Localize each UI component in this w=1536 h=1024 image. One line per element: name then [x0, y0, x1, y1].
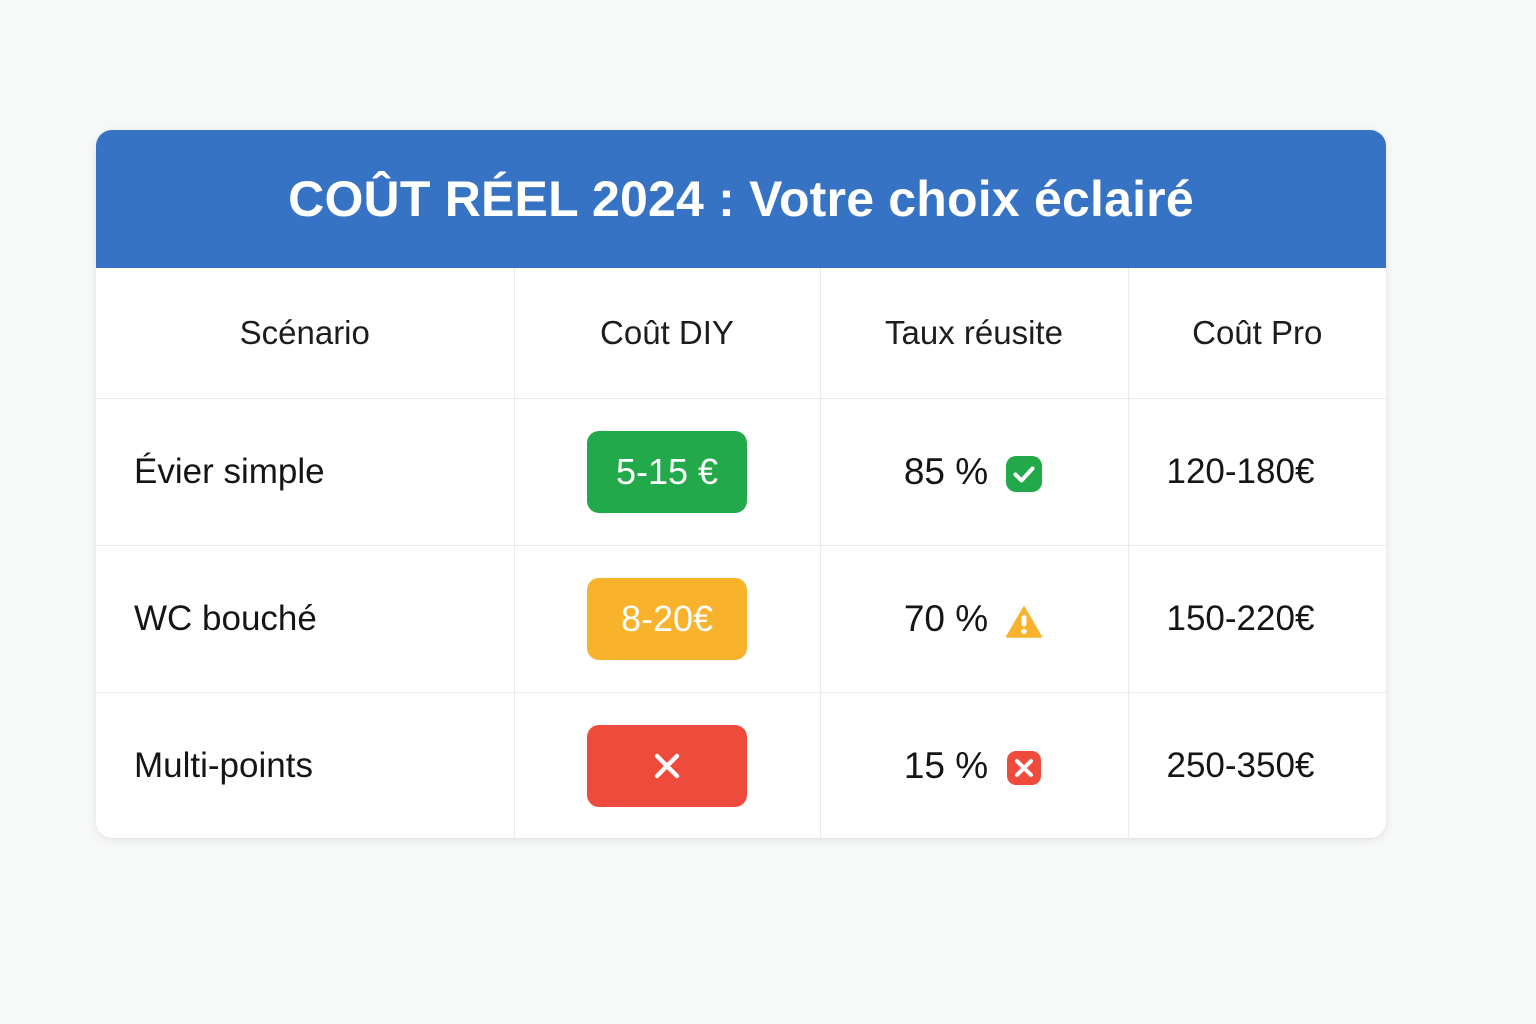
rate-group: 70 % — [904, 598, 1044, 640]
x-circle-icon — [1004, 748, 1044, 788]
check-circle-icon — [1004, 454, 1044, 494]
rate-value: 85 % — [904, 451, 988, 493]
rate-value: 70 % — [904, 598, 988, 640]
cell-diy-cost: 8-20€ — [514, 545, 820, 692]
cell-scenario: WC bouché — [96, 545, 514, 692]
column-header-scenario: Scénario — [96, 268, 514, 398]
diy-cost-badge: 8-20€ — [587, 578, 747, 660]
table-header-row: Scénario Coût DIY Taux réusite Coût Pro — [96, 268, 1386, 398]
cell-success-rate: 15 % — [820, 692, 1128, 838]
cell-success-rate: 85 % — [820, 398, 1128, 545]
cell-pro-cost: 120-180€ — [1128, 398, 1386, 545]
card-header-banner: COÛT RÉEL 2024 : Votre choix éclairé — [96, 130, 1386, 268]
diy-cost-badge: 5-15 € — [587, 431, 747, 513]
close-x-icon — [650, 749, 684, 783]
table-body: Évier simple 5-15 € 85 % — [96, 398, 1386, 838]
table-header-row-group: Scénario Coût DIY Taux réusite Coût Pro — [96, 268, 1386, 398]
cell-pro-cost: 250-350€ — [1128, 692, 1386, 838]
rate-group: 85 % — [904, 451, 1044, 493]
cell-scenario: Multi-points — [96, 692, 514, 838]
warning-triangle-icon — [1004, 601, 1044, 641]
page-root: COÛT RÉEL 2024 : Votre choix éclairé Scé… — [0, 0, 1536, 1024]
cell-diy-cost: 5-15 € — [514, 398, 820, 545]
cell-diy-cost — [514, 692, 820, 838]
column-header-success-rate: Taux réusite — [820, 268, 1128, 398]
diy-cost-badge — [587, 725, 747, 807]
column-header-diy-cost: Coût DIY — [514, 268, 820, 398]
page-title: COÛT RÉEL 2024 : Votre choix éclairé — [288, 171, 1194, 227]
table-row: Évier simple 5-15 € 85 % — [96, 398, 1386, 545]
cell-success-rate: 70 % — [820, 545, 1128, 692]
table-row: WC bouché 8-20€ 70 % — [96, 545, 1386, 692]
cost-comparison-table: Scénario Coût DIY Taux réusite Coût Pro … — [96, 268, 1386, 838]
table-row: Multi-points 15 % — [96, 692, 1386, 838]
rate-group: 15 % — [904, 745, 1044, 787]
rate-value: 15 % — [904, 745, 988, 787]
cost-comparison-card: COÛT RÉEL 2024 : Votre choix éclairé Scé… — [96, 130, 1386, 838]
cell-pro-cost: 150-220€ — [1128, 545, 1386, 692]
cell-scenario: Évier simple — [96, 398, 514, 545]
column-header-pro-cost: Coût Pro — [1128, 268, 1386, 398]
